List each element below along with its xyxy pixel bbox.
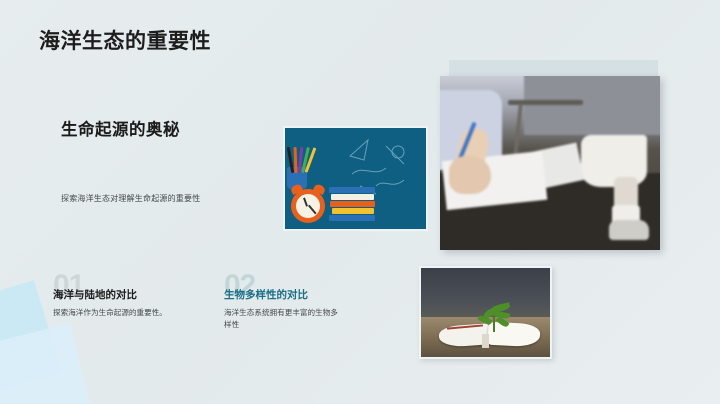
- section-body-02: 海洋生态系统拥有更丰富的生物多样性: [224, 307, 342, 331]
- section-title-02: 生物多样性的对比: [224, 287, 308, 302]
- classroom-writing-photo: [440, 76, 660, 250]
- photo-chalkboard: [421, 268, 550, 317]
- presentation-slide: 海洋生态的重要性 生命起源的奥秘 探索海洋生态对理解生命起源的重要性 01. 海…: [0, 0, 720, 404]
- slide-title: 海洋生态的重要性: [39, 25, 211, 55]
- lead-subtitle: 探索海洋生态对理解生命起源的重要性: [61, 193, 200, 204]
- section-title-01: 海洋与陆地的对比: [53, 287, 137, 302]
- book-sprout-photo: [419, 266, 552, 359]
- book-stack-illustration: [329, 186, 375, 221]
- lead-heading: 生命起源的奥秘: [61, 116, 180, 140]
- pen-orange-icon: [294, 147, 298, 173]
- photo-blur-overlay: [440, 76, 660, 250]
- alarm-clock-icon: [291, 189, 325, 223]
- photo-book-spine: [482, 334, 490, 348]
- school-supplies-graphic: [283, 126, 428, 231]
- decorative-square-blue: [0, 323, 99, 404]
- section-body-01: 探索海洋作为生命起源的重要性。: [53, 307, 171, 319]
